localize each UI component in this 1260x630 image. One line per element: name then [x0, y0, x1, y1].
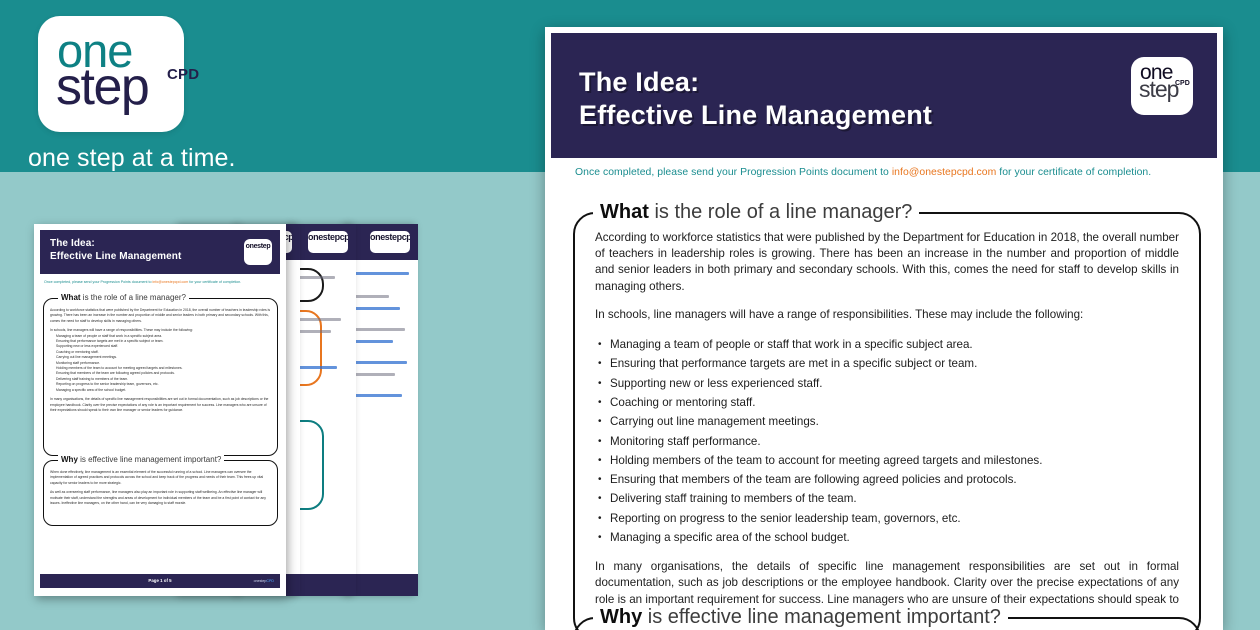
- thumbnail-what-rest: is the role of a line manager?: [81, 293, 186, 302]
- section-what-heading-bold: What: [600, 201, 649, 223]
- section-why-heading-bold: Why: [600, 606, 642, 628]
- thumbnail-note-before: Once completed, please send your Progres…: [44, 280, 152, 284]
- logo-step-text: step: [56, 61, 148, 113]
- onestep-cpd-logo: one step CPD: [38, 16, 184, 132]
- fan-page-logo: onestepcpd: [370, 231, 410, 253]
- list-item: Carrying out line management meetings.: [595, 412, 1179, 431]
- fan-page-logo: onestepcpd: [308, 231, 348, 253]
- document-title: The Idea: Effective Line Management: [579, 66, 932, 132]
- thumbnail-why-body: When done effectively, line management i…: [50, 470, 271, 506]
- thumbnail-what-p3: In many organisations, the details of sp…: [50, 397, 271, 413]
- thumbnail-section-what-heading: What is the role of a line manager?: [58, 293, 189, 302]
- thumbnail-what-body: According to workforce statistics that w…: [50, 308, 271, 413]
- thumbnail-title-line1: The Idea:: [50, 237, 181, 250]
- thumbnail-title-line2: Effective Line Management: [50, 250, 181, 263]
- section-why-heading-rest: is effective line management important?: [642, 606, 1001, 628]
- thumbnail-completion-note: Once completed, please send your Progres…: [44, 280, 278, 285]
- section-what-bullet-list: Managing a team of people or staff that …: [595, 335, 1179, 547]
- section-what-box: What is the role of a line manager? Acco…: [573, 212, 1201, 630]
- thumbnail-what-p1: According to workforce statistics that w…: [50, 308, 271, 324]
- fan-page-5[interactable]: onestepcpd: [346, 224, 418, 596]
- document-logo-cpd: CPD: [1175, 80, 1190, 87]
- thumbnail-note-email[interactable]: info@onestepcpd.com: [152, 280, 188, 284]
- document-completion-note: Once completed, please send your Progres…: [575, 167, 1207, 178]
- note-text-after: for your certificate of completion.: [996, 167, 1151, 178]
- thumbnail-why-rest: is effective line management important?: [78, 455, 221, 464]
- section-why-box: Why is effective line management importa…: [573, 617, 1201, 630]
- document-title-line1: The Idea:: [579, 66, 932, 99]
- document-thumbnail-page-1[interactable]: The Idea: Effective Line Management ones…: [34, 224, 286, 596]
- section-what-paragraph-2: In schools, line managers will have a ra…: [595, 307, 1179, 323]
- document-title-line2: Effective Line Management: [579, 99, 932, 132]
- fan-page-text-lines: [352, 272, 414, 406]
- document-logo-step: step: [1139, 78, 1178, 101]
- list-item: Supporting new or less experienced staff…: [595, 374, 1179, 393]
- thumbnail-what-bold: What: [61, 293, 81, 302]
- list-item: Delivering staff training to members of …: [595, 489, 1179, 508]
- thumbnail-logo: onestep: [244, 239, 272, 265]
- thumbnail-why-p1: When done effectively, line management i…: [50, 470, 271, 486]
- list-item: Managing a team of people or staff that …: [595, 335, 1179, 354]
- list-item: Monitoring staff performance.: [595, 432, 1179, 451]
- list-item: Reporting on progress to the senior lead…: [595, 509, 1179, 528]
- section-why: Why is effective line management importa…: [573, 617, 1201, 630]
- list-item: Managing a specific area of the school b…: [595, 528, 1179, 547]
- list-item: Ensuring that performance targets are me…: [595, 354, 1179, 373]
- note-text-before: Once completed, please send your Progres…: [575, 167, 892, 178]
- document-page-stack[interactable]: onestepcpd onestepcpd onestepcpd: [28, 218, 528, 610]
- logo-cpd-text: CPD: [167, 66, 199, 83]
- main-document[interactable]: The Idea: Effective Line Management one …: [545, 27, 1223, 630]
- thumbnail-section-what: What is the role of a line manager? Acco…: [43, 298, 278, 456]
- list-item: Ensuring that members of the team are fo…: [595, 470, 1179, 489]
- thumbnail-section-why-heading: Why is effective line management importa…: [58, 455, 224, 464]
- document-header-bar: The Idea: Effective Line Management one …: [551, 33, 1217, 158]
- fan-page-footer-bar: [346, 574, 418, 596]
- document-header-logo: one step CPD: [1131, 57, 1193, 115]
- list-item: Holding members of the team to account f…: [595, 451, 1179, 470]
- thumbnail-page-number: Page 1 of 5: [148, 578, 171, 583]
- thumbnail-footer-brand: onestepCPD: [254, 574, 274, 588]
- section-why-heading: Why is effective line management importa…: [593, 606, 1008, 629]
- fan-page-text-lines: [296, 276, 352, 378]
- thumbnail-section-why: Why is effective line management importa…: [43, 460, 278, 526]
- section-what: What is the role of a line manager? Acco…: [573, 212, 1201, 630]
- section-what-paragraph-1: According to workforce statistics that w…: [595, 230, 1179, 295]
- thumbnail-why-p2: As well as overseeing staff performance,…: [50, 490, 271, 506]
- section-what-heading: What is the role of a line manager?: [593, 201, 919, 224]
- section-what-heading-rest: is the role of a line manager?: [649, 201, 913, 223]
- thumbnail-title: The Idea: Effective Line Management: [50, 237, 181, 263]
- list-item: Coaching or mentoring staff.: [595, 393, 1179, 412]
- thumbnail-header-bar: The Idea: Effective Line Management ones…: [40, 230, 280, 274]
- brand-block: one step CPD one step at a time.: [34, 16, 274, 173]
- note-email-link[interactable]: info@onestepcpd.com: [892, 167, 997, 178]
- thumbnail-note-after: for your certificate of completion.: [188, 280, 241, 284]
- thumbnail-why-bold: Why: [61, 455, 78, 464]
- brand-tagline: one step at a time.: [28, 144, 274, 173]
- thumbnail-footer-bar: Page 1 of 5 onestepCPD: [40, 574, 280, 588]
